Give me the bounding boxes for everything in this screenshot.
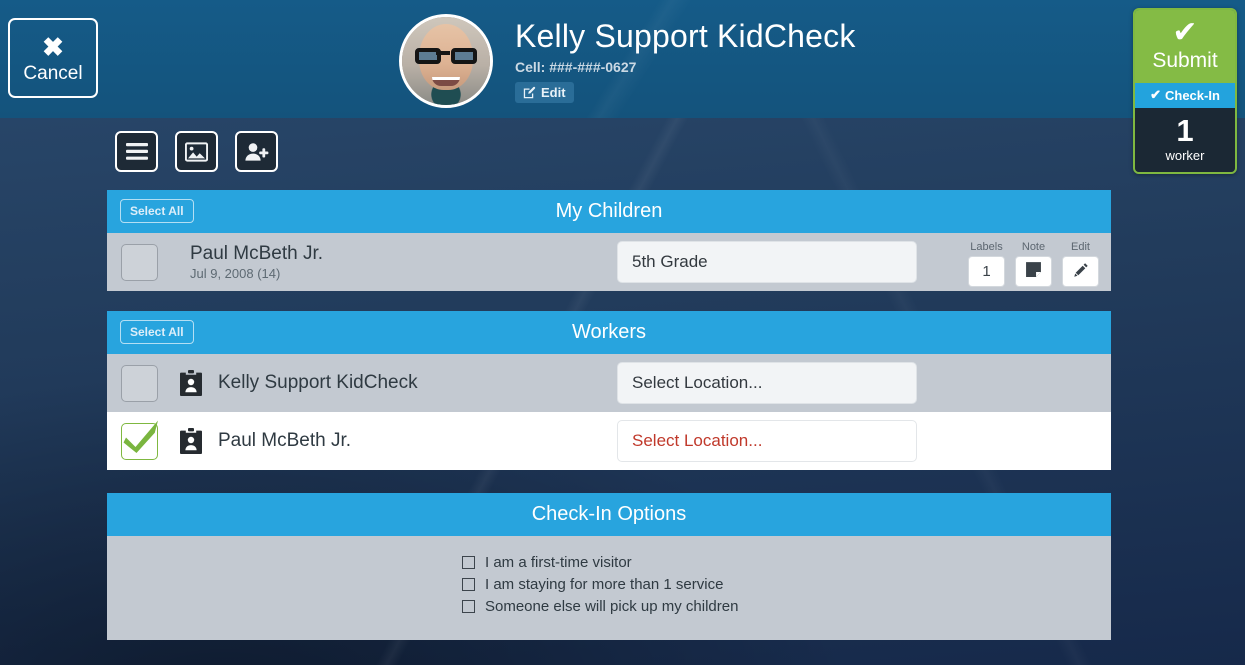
image-icon <box>185 142 208 162</box>
submit-panel: ✔ Submit ✔ Check-In 1 worker <box>1133 8 1237 174</box>
checkbox-icon[interactable] <box>462 556 475 569</box>
check-icon: ✔ <box>1150 87 1161 103</box>
child-identity: Paul McBeth Jr. Jul 9, 2008 (14) <box>190 243 323 282</box>
labels-count-button[interactable]: 1 <box>968 256 1005 287</box>
worker-count-unit: worker <box>1135 148 1235 163</box>
edit-profile-button[interactable]: Edit <box>515 82 574 103</box>
option-multiple-services[interactable]: I am staying for more than 1 service <box>462 576 1111 593</box>
worker-row[interactable]: Paul McBeth Jr. Select Location... <box>107 412 1111 470</box>
option-label: I am a first-time visitor <box>485 554 632 571</box>
cancel-button[interactable]: ✖ Cancel <box>8 18 98 98</box>
checkin-mode-label: Check-In <box>1165 88 1220 103</box>
note-action: Note <box>1015 241 1052 287</box>
worker-count: 1 worker <box>1135 108 1235 172</box>
worker-select-checkbox[interactable] <box>121 423 158 460</box>
add-person-button[interactable] <box>235 131 278 172</box>
checkbox-icon[interactable] <box>462 578 475 591</box>
worker-row[interactable]: Kelly Support KidCheck Select Location..… <box>107 354 1111 412</box>
labels-action: Labels 1 <box>968 241 1005 287</box>
checkin-options-panel: Check-In Options I am a first-time visit… <box>107 493 1111 640</box>
option-label: I am staying for more than 1 service <box>485 576 723 593</box>
toolbar <box>115 131 278 172</box>
submit-button[interactable]: ✔ Submit <box>1135 10 1235 83</box>
worker-select-checkbox[interactable] <box>121 365 158 402</box>
pencil-square-icon <box>523 86 536 99</box>
worker-location-select[interactable]: Select Location... <box>617 420 917 462</box>
child-row[interactable]: Paul McBeth Jr. Jul 9, 2008 (14) 5th Gra… <box>107 233 1111 291</box>
note-button[interactable] <box>1015 256 1052 287</box>
cancel-button-label: Cancel <box>23 64 82 83</box>
workers-panel: Select All Workers Kelly Support KidChec… <box>107 311 1111 470</box>
child-grade-select[interactable]: 5th Grade <box>617 241 917 283</box>
id-badge-icon <box>180 428 202 454</box>
child-select-checkbox[interactable] <box>121 244 158 281</box>
submit-button-label: Submit <box>1135 49 1235 73</box>
select-all-workers-button[interactable]: Select All <box>120 320 194 344</box>
checkin-options-body: I am a first-time visitor I am staying f… <box>107 536 1111 640</box>
edit-caption: Edit <box>1071 241 1090 254</box>
header-phone: Cell: ###-###-0627 <box>515 59 856 75</box>
note-caption: Note <box>1022 241 1045 254</box>
workers-header: Select All Workers <box>107 311 1111 354</box>
close-x-icon: ✖ <box>42 34 64 60</box>
child-name: Paul McBeth Jr. <box>190 243 323 265</box>
checkbox-icon[interactable] <box>462 600 475 613</box>
my-children-panel: Select All My Children Paul McBeth Jr. J… <box>107 190 1111 291</box>
labels-caption: Labels <box>970 241 1002 254</box>
option-first-time-visitor[interactable]: I am a first-time visitor <box>462 554 1111 571</box>
page-title: Kelly Support KidCheck <box>515 18 856 54</box>
avatar <box>399 14 493 108</box>
child-row-actions: Labels 1 Note Edit <box>968 241 1099 287</box>
app-header: ✖ Cancel Kelly Support KidCheck Cell: ##… <box>0 0 1245 118</box>
pencil-icon <box>1073 262 1089 282</box>
checkin-options-title: Check-In Options <box>532 503 687 526</box>
checkmark-icon: ✔ <box>1135 19 1235 47</box>
worker-location-select[interactable]: Select Location... <box>617 362 917 404</box>
my-children-title: My Children <box>556 200 663 223</box>
menu-button[interactable] <box>115 131 158 172</box>
worker-name: Kelly Support KidCheck <box>218 372 418 394</box>
edit-action: Edit <box>1062 241 1099 287</box>
photo-button[interactable] <box>175 131 218 172</box>
edit-profile-label: Edit <box>541 85 566 100</box>
workers-title: Workers <box>572 321 646 344</box>
my-children-header: Select All My Children <box>107 190 1111 233</box>
select-all-children-button[interactable]: Select All <box>120 199 194 223</box>
hamburger-icon <box>126 143 148 160</box>
edit-child-button[interactable] <box>1062 256 1099 287</box>
worker-name: Paul McBeth Jr. <box>218 430 351 452</box>
header-identity: Kelly Support KidCheck Cell: ###-###-062… <box>399 14 856 108</box>
checkin-options-header: Check-In Options <box>107 493 1111 536</box>
sticky-note-icon <box>1025 261 1042 282</box>
checkin-mode-badge[interactable]: ✔ Check-In <box>1135 83 1235 108</box>
worker-count-number: 1 <box>1135 114 1235 148</box>
user-plus-icon <box>245 142 269 162</box>
id-badge-icon <box>180 370 202 396</box>
option-alternate-pickup[interactable]: Someone else will pick up my children <box>462 598 1111 615</box>
child-birthdate: Jul 9, 2008 (14) <box>190 266 323 282</box>
option-label: Someone else will pick up my children <box>485 598 738 615</box>
